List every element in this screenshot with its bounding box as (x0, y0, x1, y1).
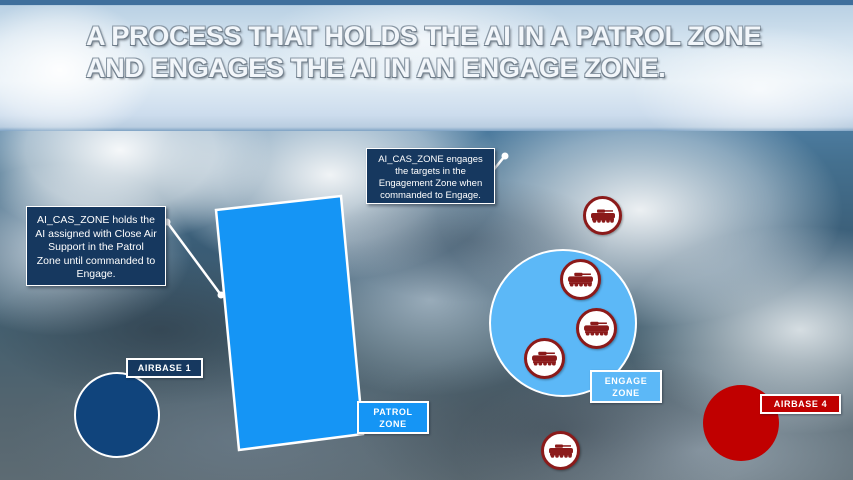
airbase-1-label[interactable]: AIRBASE 1 (126, 358, 203, 378)
airbase-4-label-text: AIRBASE 4 (774, 398, 827, 410)
target-5[interactable] (541, 431, 580, 470)
tank-icon (590, 208, 616, 224)
airbase-1-marker[interactable] (74, 372, 160, 458)
banner-top-rule (0, 0, 853, 5)
tank-icon (548, 443, 574, 459)
slide-canvas: A PROCESS THAT HOLDS THE AI IN A PATROL … (0, 0, 853, 480)
engage-zone-label[interactable]: ENGAGE ZONE (590, 370, 662, 403)
target-2[interactable] (560, 259, 601, 300)
airbase-1-label-text: AIRBASE 1 (138, 362, 191, 374)
patrol-callout: AI_CAS_ZONE holds the AI assigned with C… (26, 206, 166, 286)
patrol-callout-text: AI_CAS_ZONE holds the AI assigned with C… (27, 207, 165, 289)
engage-zone-label-line2: ZONE (605, 387, 648, 399)
target-1[interactable] (583, 196, 622, 235)
engage-zone-label-line1: ENGAGE (605, 375, 648, 387)
patrol-zone-label[interactable]: PATROL ZONE (357, 401, 429, 434)
tank-icon (567, 271, 594, 288)
patrol-zone-area[interactable] (205, 188, 375, 458)
airbase-4-label[interactable]: AIRBASE 4 (760, 394, 841, 414)
patrol-zone-label-line1: PATROL (373, 406, 412, 418)
engage-callout: AI_CAS_ZONE engages the targets in the E… (366, 148, 495, 204)
page-title: A PROCESS THAT HOLDS THE AI IN A PATROL … (86, 20, 786, 84)
engage-callout-text: AI_CAS_ZONE engages the targets in the E… (367, 149, 494, 207)
patrol-zone-label-line2: ZONE (373, 418, 412, 430)
target-4[interactable] (524, 338, 565, 379)
tank-icon (583, 320, 610, 337)
target-3[interactable] (576, 308, 617, 349)
patrol-zone-polygon (216, 196, 363, 450)
tank-icon (531, 350, 558, 367)
